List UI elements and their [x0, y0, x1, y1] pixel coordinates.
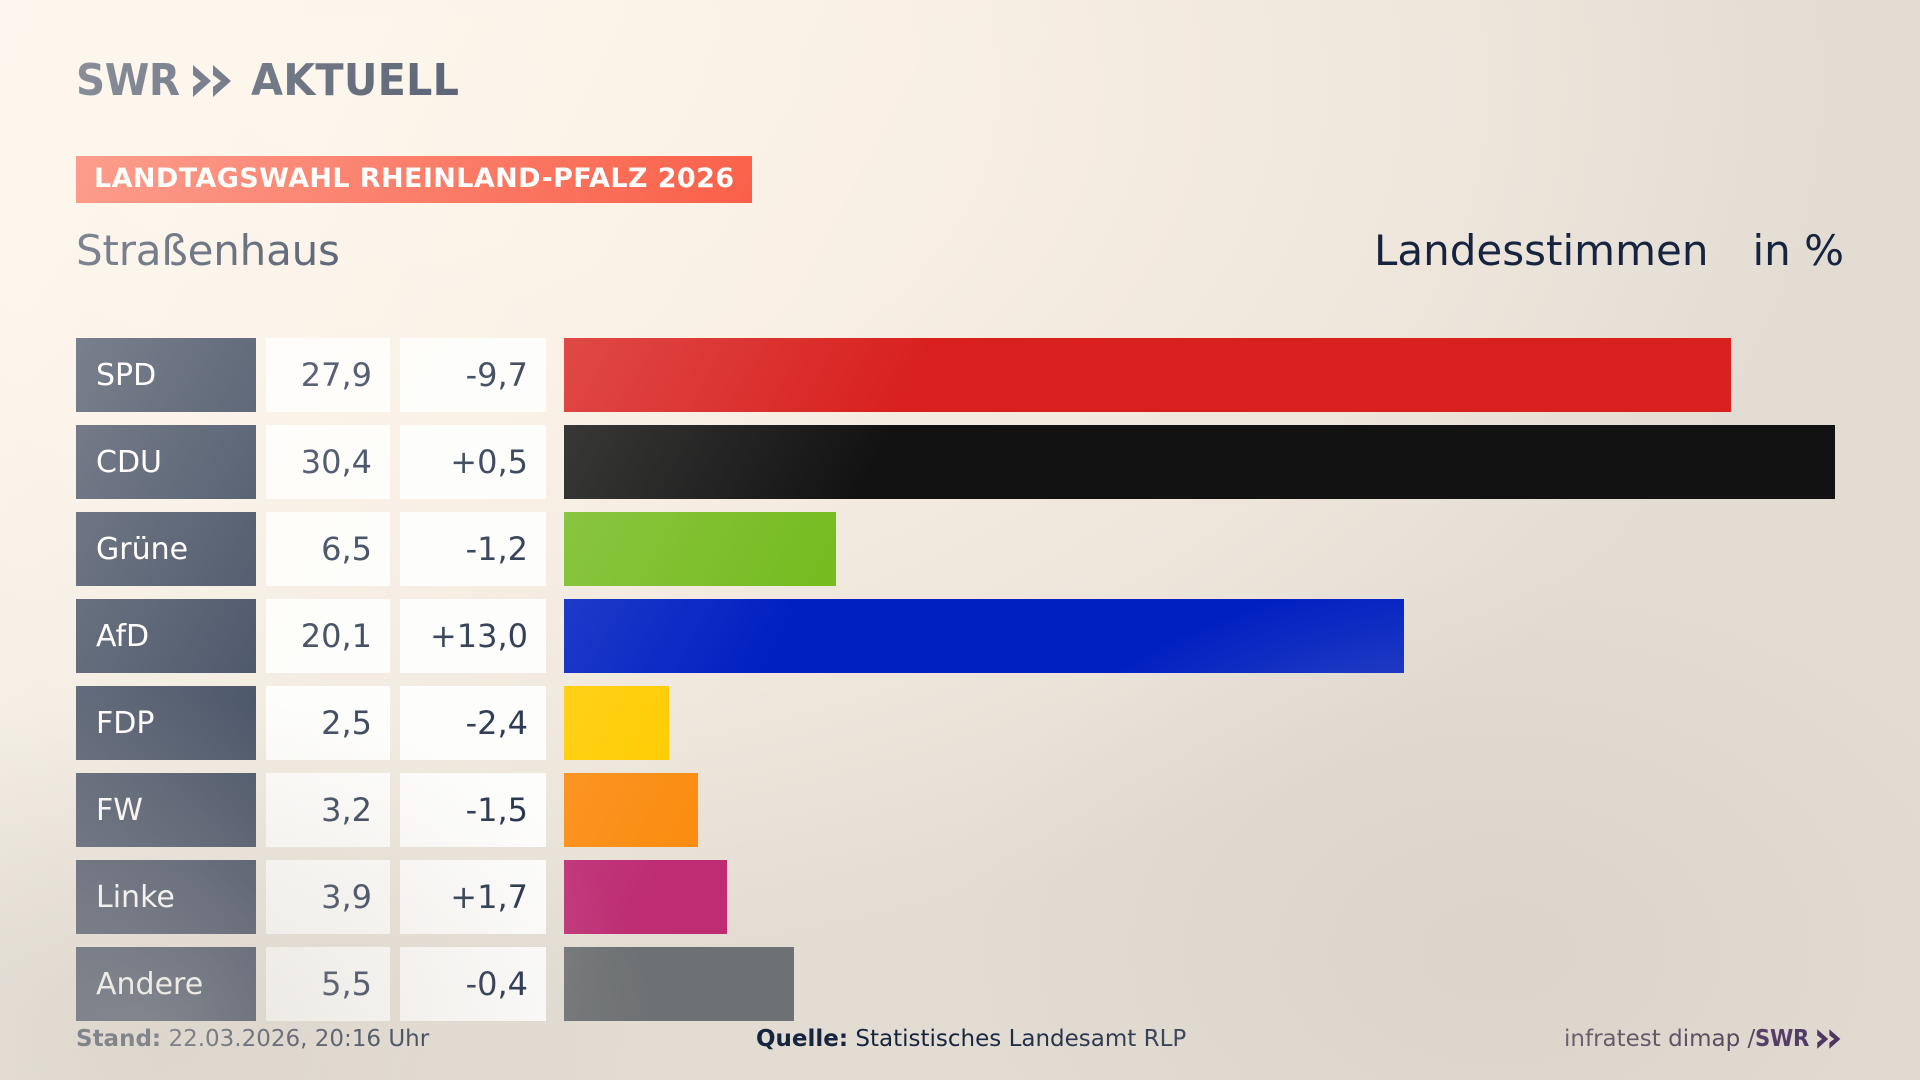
result-percent-cell: 3,9 [266, 860, 390, 934]
result-bar [564, 686, 669, 760]
bar-track [564, 425, 1902, 499]
result-percent-cell: 27,9 [266, 338, 390, 412]
source-info: Quelle: Statistisches Landesamt RLP [696, 1026, 1564, 1052]
credit-swr-wordmark: SWR [1755, 1026, 1809, 1052]
result-bar [564, 773, 698, 847]
swr-wordmark: SWR [76, 59, 180, 103]
unit-label: in % [1752, 230, 1844, 272]
party-name-cell: Linke [76, 860, 256, 934]
stand-info: Stand: 22.03.2026, 20:16 Uhr [76, 1026, 696, 1052]
stand-value: 22.03.2026, 20:16 Uhr [168, 1026, 429, 1052]
quelle-label: Quelle: [756, 1026, 848, 1052]
bar-track [564, 686, 1902, 760]
table-row[interactable]: Andere5,5-0,4 [76, 941, 1902, 1027]
aktuell-wordmark: AKTUELL [251, 59, 459, 103]
double-chevron-right-icon [1816, 1028, 1844, 1050]
result-bar [564, 512, 836, 586]
result-change-cell: -0,4 [400, 947, 546, 1021]
party-name-cell: FDP [76, 686, 256, 760]
election-banner: LANDTAGSWAHL RHEINLAND-PFALZ 2026 [76, 156, 752, 203]
result-percent-cell: 2,5 [266, 686, 390, 760]
subheader-right: Landesstimmen in % [1374, 230, 1844, 272]
infographic-root: SWR AKTUELL LANDTAGSWAHL RHEINLAND-PFALZ… [0, 0, 1920, 1080]
double-chevron-right-icon [191, 63, 237, 99]
swr-aktuell-logo: SWR AKTUELL [76, 56, 472, 106]
region-title: Straßenhaus [76, 230, 340, 272]
results-chart: SPD27,9-9,7CDU30,4+0,5Grüne6,5-1,2AfD20,… [76, 332, 1902, 1028]
bar-track [564, 599, 1902, 673]
bar-track [564, 947, 1902, 1021]
result-percent-cell: 20,1 [266, 599, 390, 673]
result-bar [564, 599, 1404, 673]
table-row[interactable]: SPD27,9-9,7 [76, 332, 1902, 418]
party-name-cell: FW [76, 773, 256, 847]
result-bar [564, 425, 1835, 499]
bar-track [564, 773, 1902, 847]
vote-type-label: Landesstimmen [1374, 230, 1708, 272]
party-name-cell: AfD [76, 599, 256, 673]
result-percent-cell: 3,2 [266, 773, 390, 847]
credit-infratest-dimap: infratest dimap / [1564, 1026, 1755, 1052]
bar-track [564, 860, 1902, 934]
result-change-cell: +13,0 [400, 599, 546, 673]
result-change-cell: -2,4 [400, 686, 546, 760]
party-name-cell: SPD [76, 338, 256, 412]
table-row[interactable]: FW3,2-1,5 [76, 767, 1902, 853]
subheader: Straßenhaus Landesstimmen in % [76, 222, 1844, 280]
table-row[interactable]: CDU30,4+0,5 [76, 419, 1902, 505]
result-bar [564, 338, 1731, 412]
result-bar [564, 947, 794, 1021]
footer: Stand: 22.03.2026, 20:16 Uhr Quelle: Sta… [76, 1022, 1844, 1056]
result-change-cell: -1,5 [400, 773, 546, 847]
result-change-cell: -1,2 [400, 512, 546, 586]
result-percent-cell: 30,4 [266, 425, 390, 499]
quelle-value: Statistisches Landesamt RLP [855, 1026, 1186, 1052]
table-row[interactable]: FDP2,5-2,4 [76, 680, 1902, 766]
party-name-cell: Grüne [76, 512, 256, 586]
result-change-cell: -9,7 [400, 338, 546, 412]
party-name-cell: Andere [76, 947, 256, 1021]
credit: infratest dimap / SWR [1564, 1026, 1844, 1052]
result-bar [564, 860, 727, 934]
table-row[interactable]: AfD20,1+13,0 [76, 593, 1902, 679]
result-change-cell: +1,7 [400, 860, 546, 934]
result-percent-cell: 6,5 [266, 512, 390, 586]
party-name-cell: CDU [76, 425, 256, 499]
stand-label: Stand: [76, 1026, 161, 1052]
table-row[interactable]: Grüne6,5-1,2 [76, 506, 1902, 592]
result-change-cell: +0,5 [400, 425, 546, 499]
bar-track [564, 512, 1902, 586]
result-percent-cell: 5,5 [266, 947, 390, 1021]
bar-track [564, 338, 1902, 412]
table-row[interactable]: Linke3,9+1,7 [76, 854, 1902, 940]
